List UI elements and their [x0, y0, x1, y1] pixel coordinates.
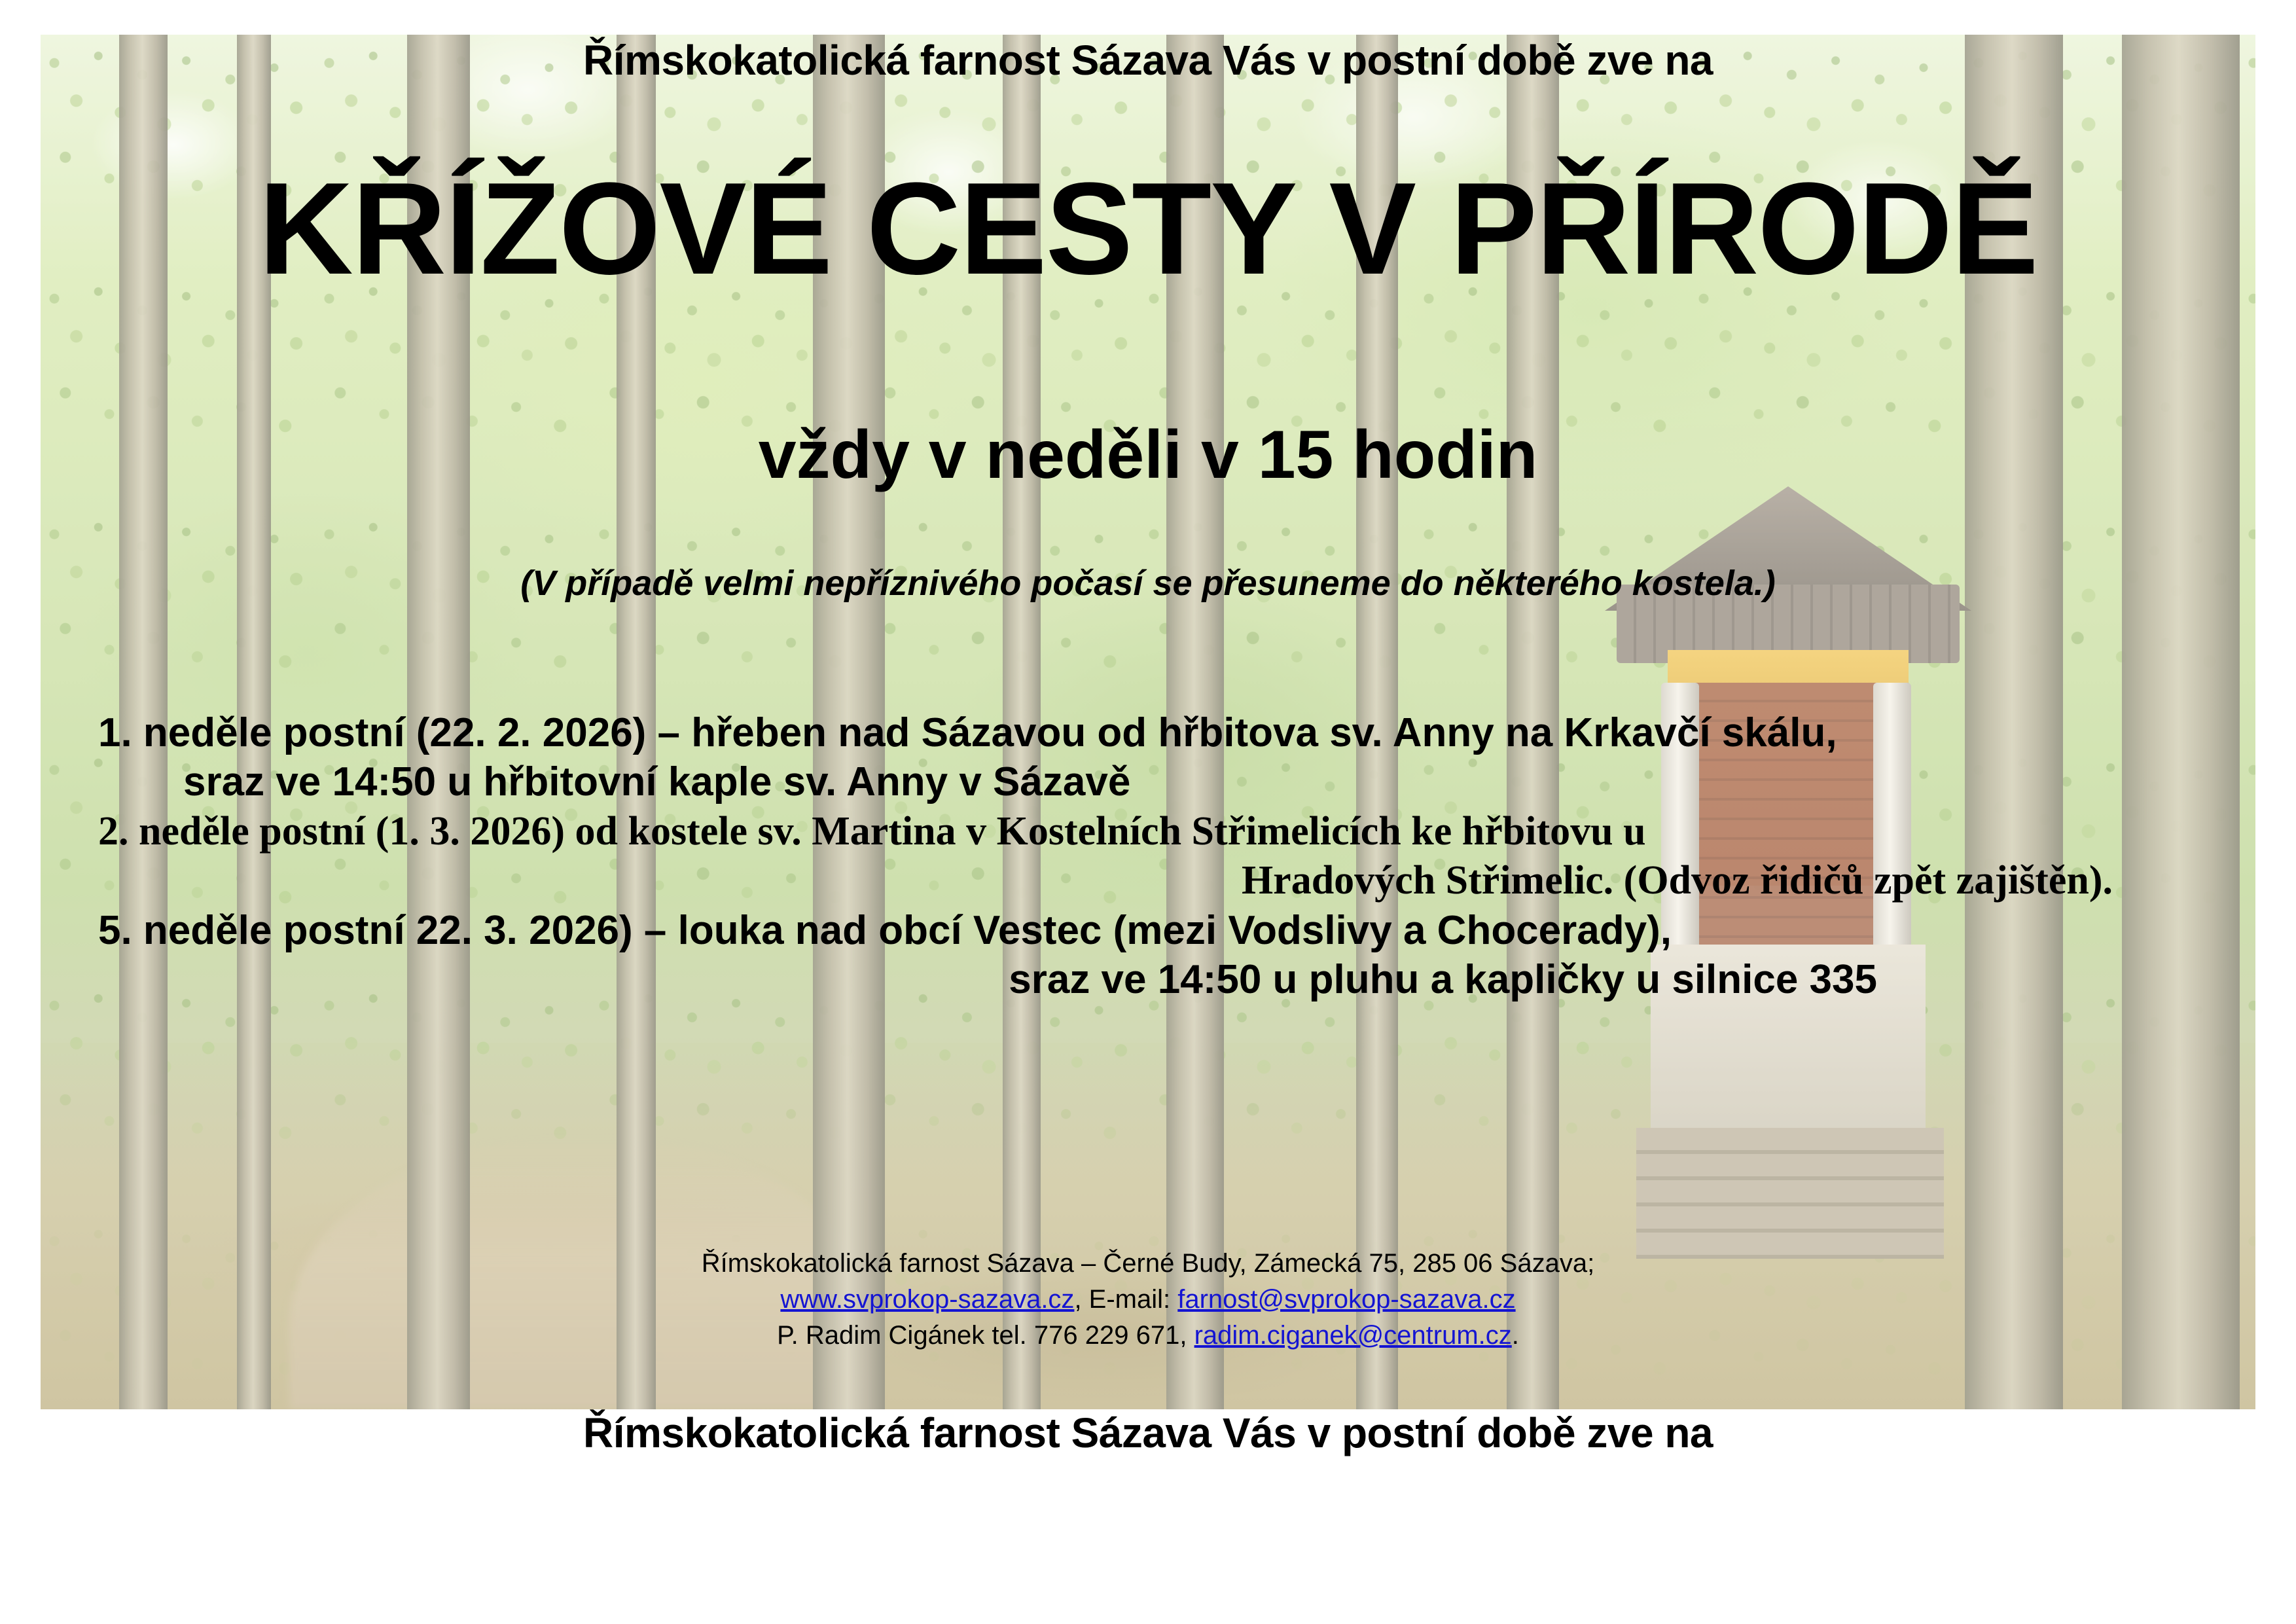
- website-link[interactable]: www.svprokop-sazava.cz: [780, 1285, 1074, 1314]
- route-item-3-line-1: 5. neděle postní 22. 3. 2026) – louka na…: [98, 908, 2217, 953]
- parish-web-email-line: www.svprokop-sazava.cz, E-mail: farnost@…: [0, 1282, 2296, 1318]
- event-time-subtitle: vždy v neděli v 15 hodin: [0, 418, 2296, 492]
- route-item-3-line-2: sraz ve 14:50 u pluhu a kapličky u silni…: [98, 957, 2217, 1002]
- route-item-1-line-2: sraz ve 14:50 u hřbitovní kaple sv. Anny…: [98, 759, 2217, 804]
- priest-name-phone: P. Radim Cigánek tel. 776 229 671,: [777, 1321, 1194, 1350]
- header-invitation-bottom: Římskokatolická farnost Sázava Vás v pos…: [0, 1409, 2296, 1457]
- route-item-2-line-1: 2. neděle postní (1. 3. 2026) od kostele…: [98, 809, 2217, 854]
- route-item-1-line-1: 1. neděle postní (22. 2. 2026) – hřeben …: [98, 710, 2217, 755]
- contact-block: Římskokatolická farnost Sázava – Černé B…: [0, 1246, 2296, 1354]
- parish-address: Římskokatolická farnost Sázava – Černé B…: [0, 1246, 2296, 1282]
- header-invitation-top: Římskokatolická farnost Sázava Vás v pos…: [0, 36, 2296, 84]
- email-label: , E-mail:: [1074, 1285, 1177, 1314]
- priest-contact-line: P. Radim Cigánek tel. 776 229 671, radim…: [0, 1318, 2296, 1354]
- priest-email-link[interactable]: radim.ciganek@centrum.cz: [1194, 1321, 1512, 1350]
- parish-email-link[interactable]: farnost@svprokop-sazava.cz: [1177, 1285, 1515, 1314]
- page-title: KŘÍŽOVÉ CESTY V PŘÍRODĚ: [0, 160, 2296, 298]
- route-item-2-line-2: Hradových Střimelic. (Odvoz řidičů zpět …: [98, 858, 2217, 903]
- route-list: 1. neděle postní (22. 2. 2026) – hřeben …: [98, 710, 2217, 1007]
- poster-text-layer: Římskokatolická farnost Sázava Vás v pos…: [0, 0, 2296, 1624]
- priest-email-period: .: [1512, 1321, 1519, 1350]
- poster-root: Římskokatolická farnost Sázava Vás v pos…: [0, 0, 2296, 1624]
- weather-note: (V případě velmi nepříznivého počasí se …: [0, 563, 2296, 604]
